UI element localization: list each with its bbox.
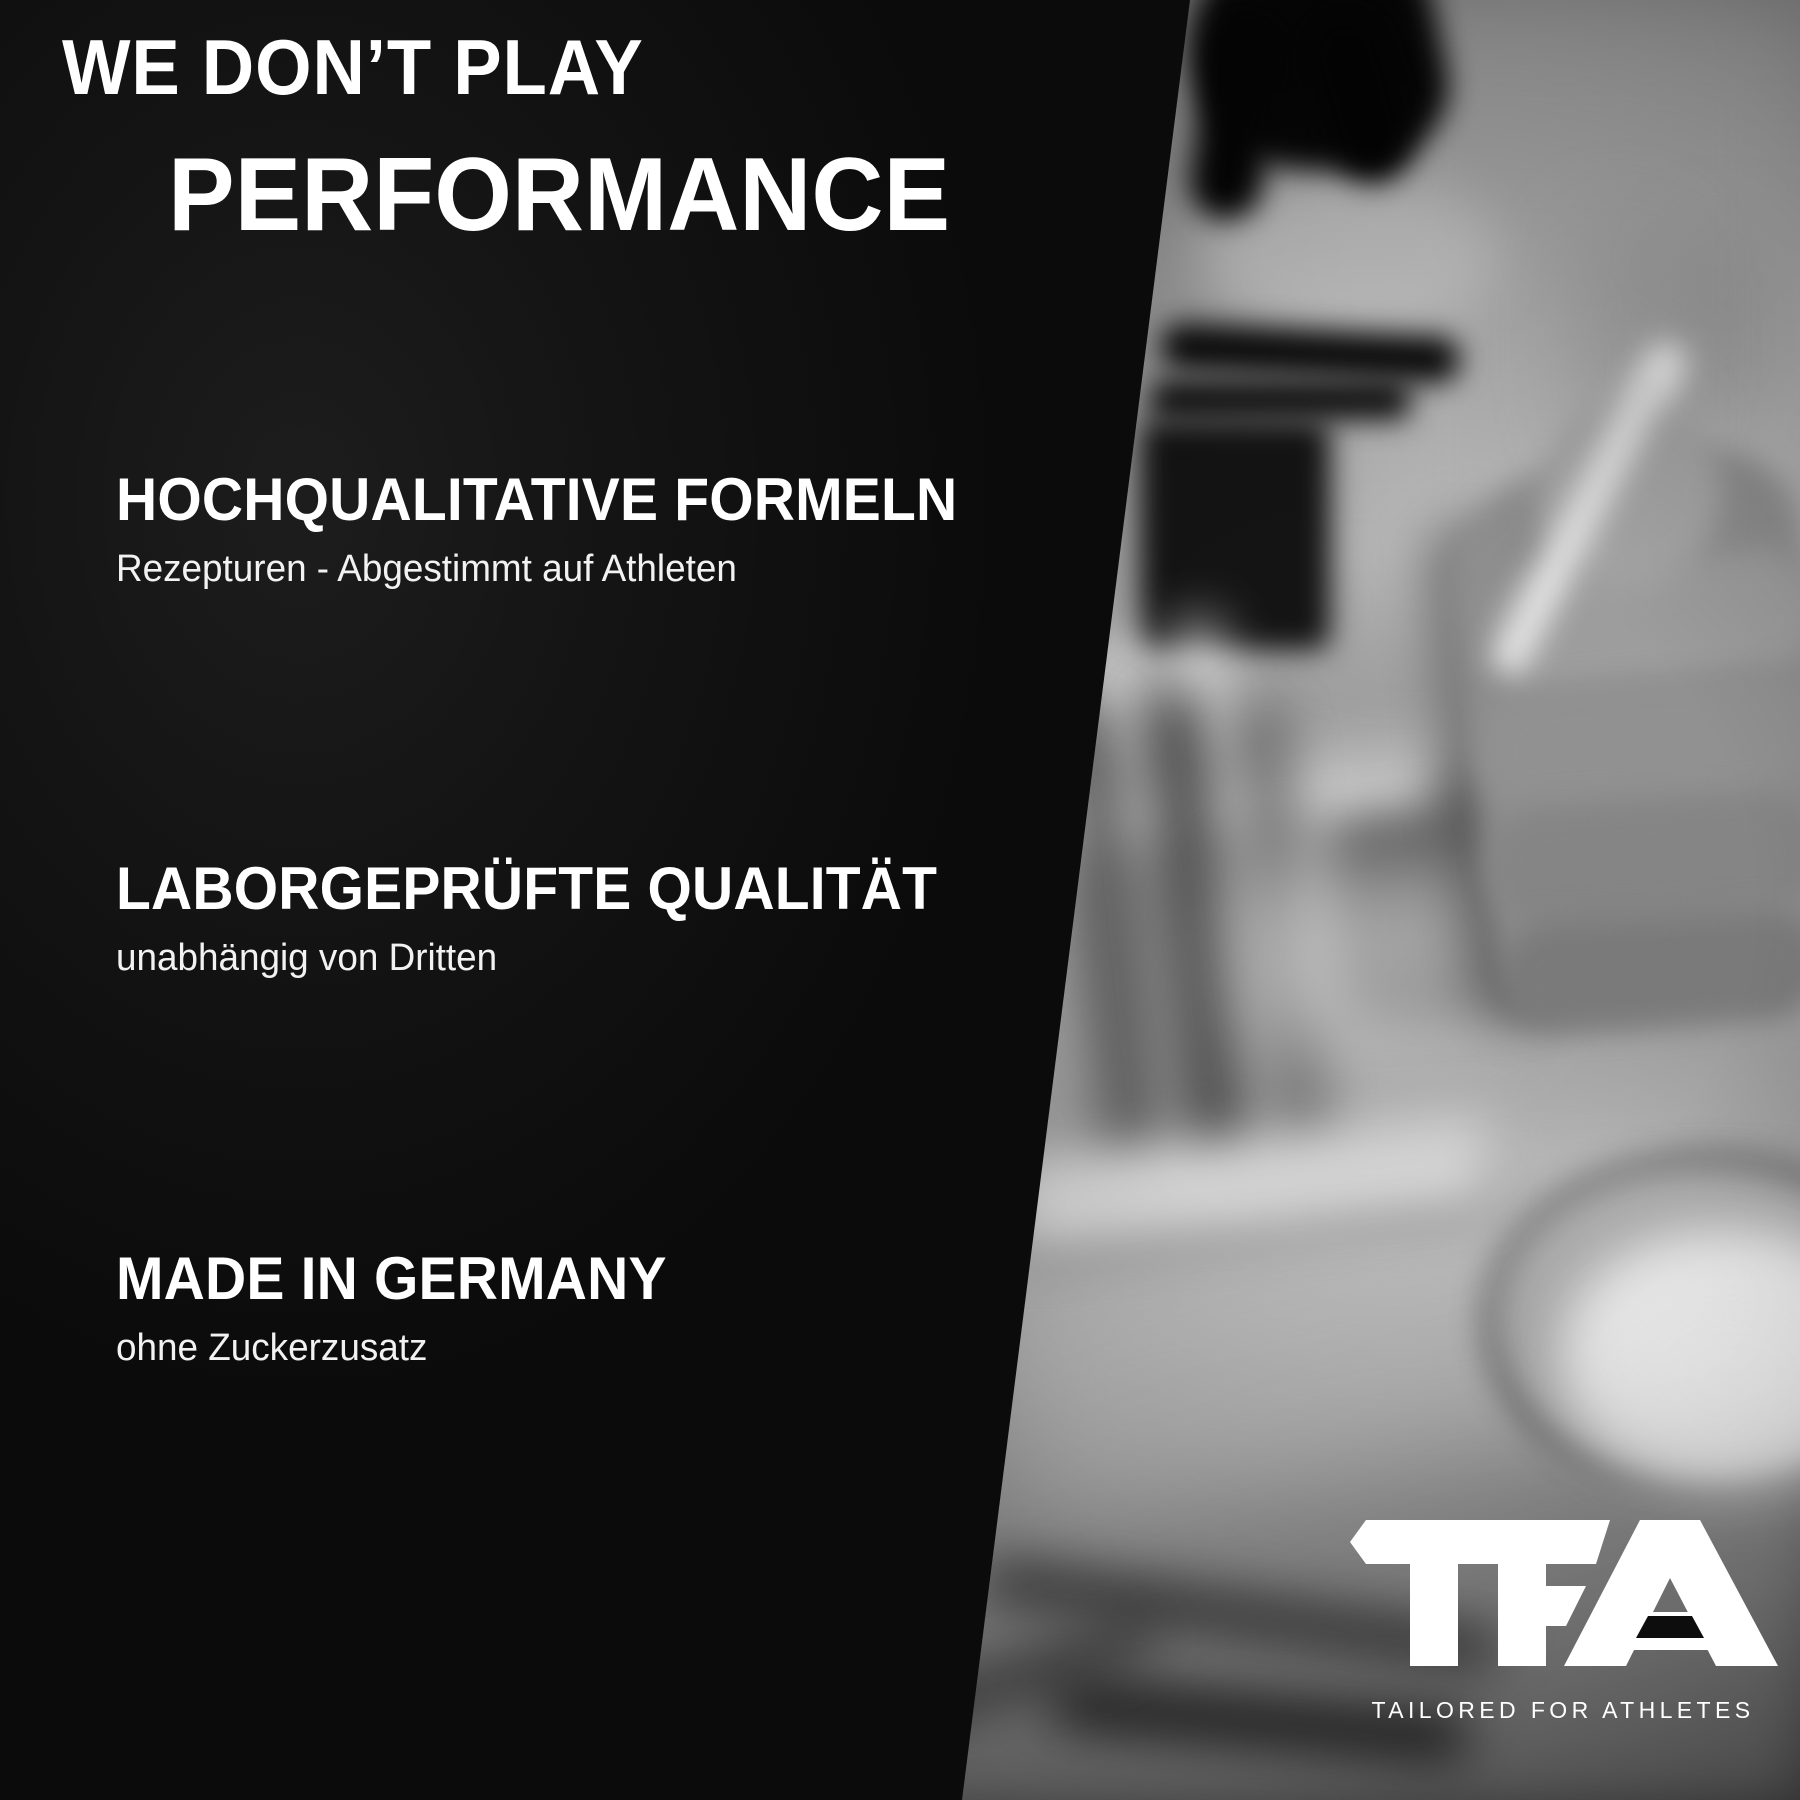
feature-title: LABORGEPRÜFTE QUALITÄT xyxy=(116,855,1009,922)
feature-item-2: LABORGEPRÜFTE QUALITÄT unabhängig von Dr… xyxy=(116,855,1056,982)
promo-graphic: WE DON’T PLAY PERFORMANCE HOCHQUALITATIV… xyxy=(0,0,1800,1800)
feature-subtitle: unabhängig von Dritten xyxy=(116,936,1028,982)
feature-subtitle: ohne Zuckerzusatz xyxy=(116,1326,1028,1372)
kicker-headline: WE DON’T PLAY xyxy=(62,28,644,106)
brand-logo: TAILORED FOR ATHLETES xyxy=(1348,1516,1778,1724)
feature-subtitle: Rezepturen - Abgestimmt auf Athleten xyxy=(116,547,1028,593)
copy-block: WE DON’T PLAY PERFORMANCE HOCHQUALITATIV… xyxy=(0,0,1100,1800)
hero-headline: PERFORMANCE xyxy=(168,143,950,247)
feature-title: HOCHQUALITATIVE FORMELN xyxy=(116,466,1009,533)
feature-item-3: MADE IN GERMANY ohne Zuckerzusatz xyxy=(116,1245,1056,1372)
feature-item-1: HOCHQUALITATIVE FORMELN Rezepturen - Abg… xyxy=(116,466,1056,593)
tfa-monogram-icon xyxy=(1348,1516,1778,1691)
feature-title: MADE IN GERMANY xyxy=(116,1245,1009,1312)
logo-tagline: TAILORED FOR ATHLETES xyxy=(1348,1697,1778,1724)
